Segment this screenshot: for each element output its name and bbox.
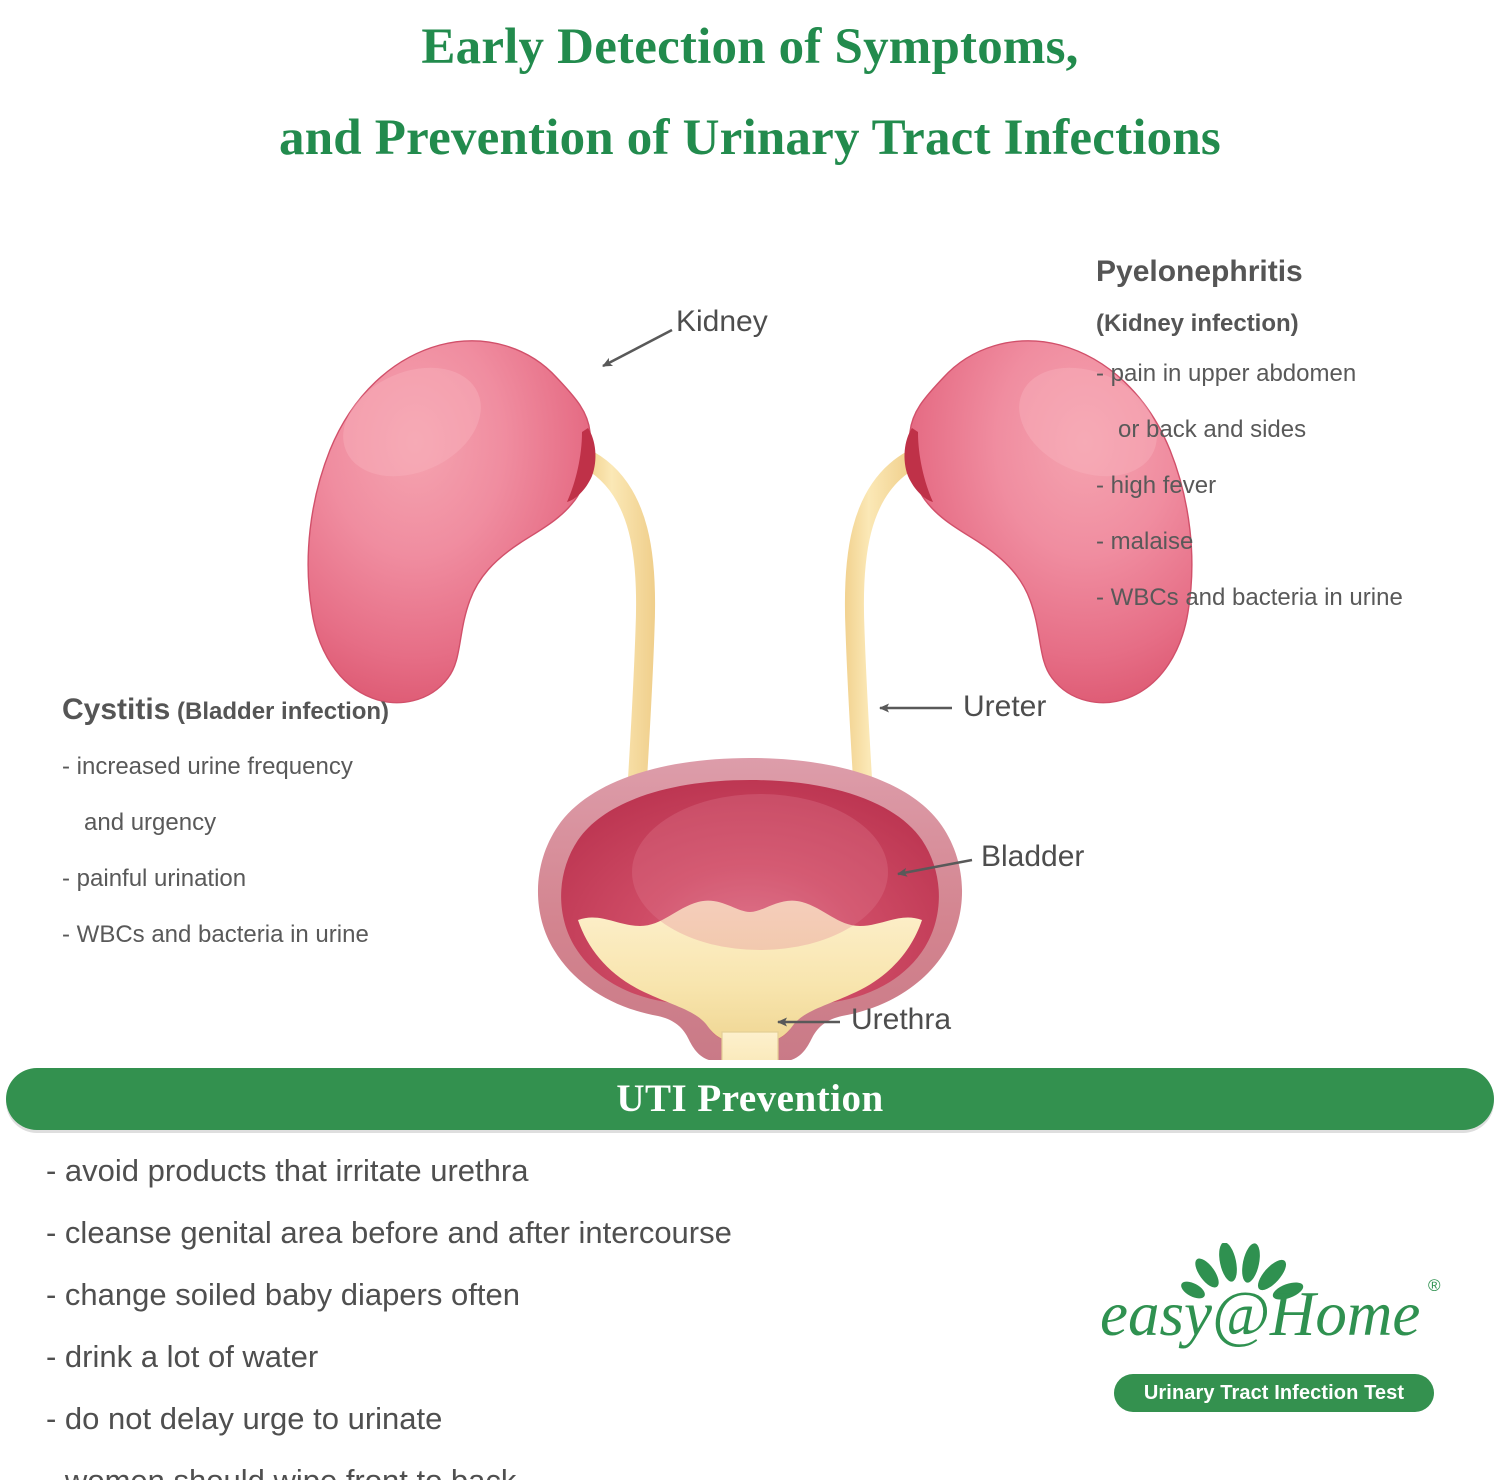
label-kidney: Kidney: [676, 305, 768, 339]
page-title-line-1: Early Detection of Symptoms,: [0, 2, 1500, 93]
list-item: - malaise: [1096, 530, 1403, 554]
pyelonephritis-info-block: Pyelonephritis (Kidney infection) - pain…: [1096, 255, 1403, 642]
list-item: - WBCs and bacteria in urine: [62, 923, 389, 947]
cystitis-symptom-list: - increased urine frequency and urgency …: [62, 755, 389, 947]
list-item: - high fever: [1096, 474, 1403, 498]
cystitis-info-block: Cystitis (Bladder infection) - increased…: [62, 693, 389, 979]
cystitis-heading-main: Cystitis: [62, 693, 170, 726]
pyelonephritis-heading: Pyelonephritis: [1096, 255, 1403, 289]
cystitis-heading-suffix: (Bladder infection): [170, 698, 389, 725]
infographic-page: Early Detection of Symptoms, and Prevent…: [0, 0, 1500, 1480]
list-item: - WBCs and bacteria in urine: [1096, 586, 1403, 610]
product-badge-label: Urinary Tract Infection Test: [1114, 1374, 1434, 1412]
cystitis-heading: Cystitis (Bladder infection): [62, 693, 389, 727]
label-urethra: Urethra: [851, 1003, 951, 1037]
page-title: Early Detection of Symptoms, and Prevent…: [0, 2, 1500, 184]
list-item: - cleanse genital area before and after …: [46, 1217, 996, 1248]
list-item: - pain in upper abdomen: [1096, 362, 1403, 386]
pyelonephritis-symptom-list: - pain in upper abdomen or back and side…: [1096, 362, 1403, 610]
list-item: - avoid products that irritate urethra: [46, 1155, 996, 1186]
list-item: - increased urine frequency: [62, 755, 389, 779]
brand-logo: easy@Home ® Urinary Tract Infection Test: [1090, 1243, 1460, 1428]
urethra: [722, 1032, 778, 1060]
product-badge: Urinary Tract Infection Test: [1114, 1374, 1434, 1412]
list-item: - drink a lot of water: [46, 1341, 996, 1372]
pyelonephritis-subheading: (Kidney infection): [1096, 310, 1403, 338]
label-bladder: Bladder: [981, 840, 1084, 874]
arrow-kidney: [603, 330, 672, 366]
uti-prevention-banner: UTI Prevention: [6, 1068, 1494, 1130]
kidney-left: [308, 341, 595, 703]
list-item: - do not delay urge to urinate: [46, 1403, 996, 1434]
prevention-list: - avoid products that irritate urethra -…: [46, 1155, 996, 1480]
label-ureter: Ureter: [963, 690, 1046, 724]
list-item: and urgency: [62, 811, 389, 835]
logo-wordmark: easy@Home: [1100, 1279, 1420, 1349]
list-item: or back and sides: [1096, 418, 1403, 442]
list-item: - painful urination: [62, 867, 389, 891]
uti-prevention-banner-label: UTI Prevention: [6, 1068, 1494, 1130]
easy-at-home-wordmark: easy@Home ®: [1090, 1243, 1460, 1363]
registered-trademark-icon: ®: [1428, 1276, 1441, 1295]
list-item: - change soiled baby diapers often: [46, 1279, 996, 1310]
list-item: - women should wipe front to back: [46, 1465, 996, 1480]
